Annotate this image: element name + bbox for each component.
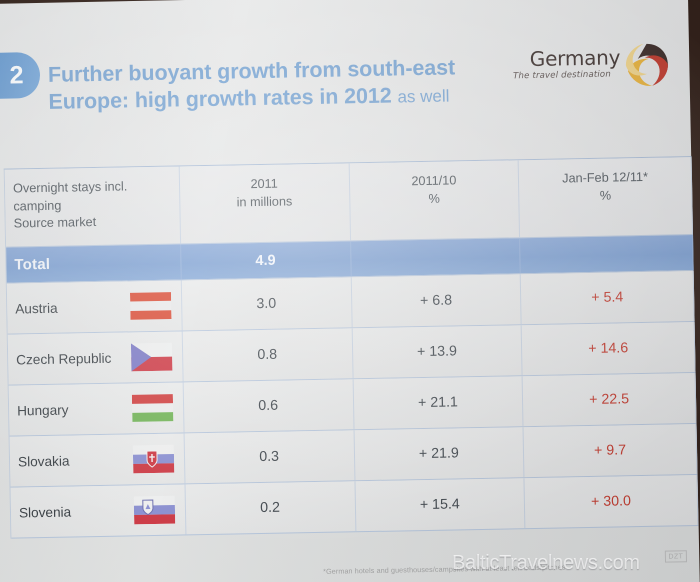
value-janfeb-cell: + 30.0 [525, 475, 699, 528]
header-line1: Jan-Feb 12/11* [562, 170, 648, 186]
value-change: + 6.8 [420, 292, 452, 309]
germany-swirl-logo-icon [619, 38, 674, 91]
header-line1: 2011 [250, 177, 278, 191]
header-line1: Overnight stays incl. [13, 179, 127, 195]
value-janfeb-cell: + 14.6 [522, 322, 696, 375]
total-value-change-cell [351, 238, 521, 276]
value-change-cell: + 13.9 [352, 325, 523, 378]
header-cell-change-2011-10: 2011/10 % [349, 160, 520, 240]
total-value-janfeb-cell [520, 235, 693, 273]
total-value-2011-cell: 4.9 [181, 241, 351, 279]
value-change-cell: + 6.8 [351, 274, 522, 327]
value-2011: 0.2 [260, 500, 280, 516]
country-cell: Czech Republic [8, 331, 184, 384]
table-header-row: Overnight stays incl. camping Source mar… [5, 157, 693, 248]
header-line2: % [428, 191, 440, 205]
value-change: + 13.9 [417, 343, 457, 360]
header-line1: 2011/10 [411, 173, 456, 188]
flag-hungary-icon [132, 394, 174, 423]
value-janfeb: + 9.7 [594, 442, 626, 459]
value-change: + 21.9 [419, 445, 459, 462]
slide-content: 2 Further buoyant growth from south-east… [0, 0, 700, 582]
total-value-2011: 4.9 [255, 252, 275, 268]
country-label: Slovenia [19, 504, 71, 520]
total-label-cell: Total [6, 244, 181, 282]
logo-wordmark: Germany [530, 45, 621, 71]
statistics-table: Overnight stays incl. camping Source mar… [4, 156, 699, 539]
country-label: Hungary [17, 402, 69, 418]
country-label: Czech Republic [16, 350, 111, 367]
value-janfeb-cell: + 9.7 [524, 424, 698, 477]
value-2011: 0.3 [259, 449, 279, 465]
country-cell: Hungary [9, 382, 185, 435]
flag-slovenia-icon [133, 496, 175, 525]
value-2011-cell: 0.8 [182, 328, 353, 381]
value-change: + 21.1 [418, 394, 458, 411]
flag-slovakia-icon [133, 445, 175, 474]
watermark: BalticTravelnews.com [452, 552, 640, 575]
header-line2: % [600, 188, 612, 202]
value-2011-cell: 0.3 [184, 430, 355, 483]
value-janfeb-cell: + 22.5 [523, 373, 697, 426]
header-line2: camping [13, 198, 61, 213]
photographed-slide: 2 Further buoyant growth from south-east… [0, 0, 700, 582]
page-title-line2: Europe: high growth rates in 2012 [48, 84, 392, 114]
slide-header: 2 Further buoyant growth from south-east… [0, 28, 697, 149]
value-2011-cell: 0.2 [185, 481, 356, 534]
value-change-cell: + 15.4 [355, 478, 526, 531]
value-2011-cell: 3.0 [182, 277, 353, 330]
value-change-cell: + 21.1 [353, 376, 524, 429]
value-2011: 0.8 [257, 347, 277, 363]
value-janfeb: + 5.4 [591, 289, 623, 306]
value-change-cell: + 21.9 [354, 427, 525, 480]
logo-tagline: The travel destination [513, 70, 611, 82]
value-2011: 0.6 [258, 398, 278, 414]
organisation-mark: DZT [665, 550, 687, 562]
country-cell: Slovenia [11, 484, 187, 537]
country-label: Austria [15, 300, 58, 316]
value-2011-cell: 0.6 [183, 379, 354, 432]
header-cell-2011: 2011 in millions [179, 163, 350, 243]
header-cell-jan-feb: Jan-Feb 12/11* % [519, 157, 693, 237]
value-2011: 3.0 [256, 296, 276, 312]
flag-czech-icon [131, 343, 173, 372]
value-change: + 15.4 [420, 496, 460, 513]
flag-austria-icon [130, 292, 172, 321]
germany-logo: Germany The travel destination [507, 40, 678, 101]
header-cell-source-market: Overnight stays incl. camping Source mar… [5, 166, 181, 246]
value-janfeb: + 30.0 [591, 493, 631, 510]
country-cell: Slovakia [10, 433, 186, 486]
slide-number-badge: 2 [0, 52, 40, 99]
country-cell: Austria [7, 280, 183, 333]
header-line3: Source market [14, 215, 97, 231]
country-label: Slovakia [18, 453, 70, 469]
value-janfeb-cell: + 5.4 [521, 271, 695, 324]
total-label: Total [14, 256, 50, 274]
value-janfeb: + 14.6 [588, 340, 628, 357]
header-line2: in millions [236, 194, 292, 209]
value-janfeb: + 22.5 [589, 391, 629, 408]
page-title-line1: Further buoyant growth from south-east [48, 55, 455, 86]
page-title-suffix: as well [397, 87, 449, 107]
page-title: Further buoyant growth from south-east E… [48, 54, 479, 117]
